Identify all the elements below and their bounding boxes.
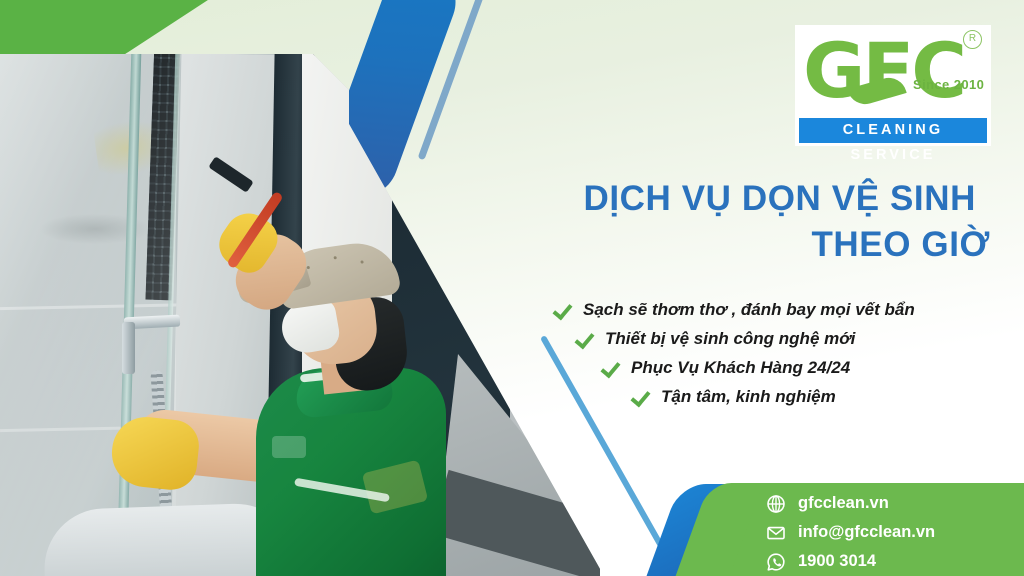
envelope-icon bbox=[766, 523, 786, 543]
contact-website[interactable]: gfcclean.vn bbox=[766, 489, 1024, 518]
contact-email-text: info@gfcclean.vn bbox=[798, 523, 935, 542]
list-item: Tận tâm, kinh nghiệm bbox=[630, 387, 1008, 407]
green-wedge-shape bbox=[0, 0, 306, 60]
faucet-stem bbox=[122, 322, 135, 374]
feature-text: Thiết bị vệ sinh công nghệ mới bbox=[605, 329, 855, 349]
hero-photo-content bbox=[0, 54, 600, 576]
feature-text: Sạch sẽ thơm thơ , đánh bay mọi vết bẩn bbox=[583, 300, 915, 320]
registered-trademark-icon: R bbox=[963, 30, 982, 49]
cap-eyelet bbox=[360, 260, 363, 263]
check-icon bbox=[600, 358, 620, 378]
logo-since-text: Since 2010 bbox=[913, 77, 984, 92]
contact-phone[interactable]: 1900 3014 bbox=[766, 547, 1024, 576]
whatsapp-icon bbox=[766, 552, 786, 572]
check-icon bbox=[574, 329, 594, 349]
contact-email[interactable]: info@gfcclean.vn bbox=[766, 518, 1024, 547]
logo-tagline: CLEANING SERVICE bbox=[799, 118, 987, 143]
check-icon bbox=[630, 387, 650, 407]
headline-line-1: DỊCH VỤ DỌN VỆ SINH bbox=[470, 176, 990, 222]
page-title: DỊCH VỤ DỌN VỆ SINH THEO GIỜ bbox=[470, 176, 990, 268]
cleaning-worker bbox=[146, 240, 446, 576]
list-item: Thiết bị vệ sinh công nghệ mới bbox=[574, 329, 1008, 349]
check-icon bbox=[552, 300, 572, 320]
brand-logo[interactable]: GFC Since 2010 R CLEANING SERVICE bbox=[795, 25, 991, 146]
list-item: Phục Vụ Khách Hàng 24/24 bbox=[600, 358, 1008, 378]
promo-banner: GFC Since 2010 R CLEANING SERVICE DỊCH V… bbox=[0, 0, 1024, 576]
contact-list: gfcclean.vn info@gfcclean.vn 1900 3014 bbox=[766, 489, 1024, 576]
feature-list: Sạch sẽ thơm thơ , đánh bay mọi vết bẩn … bbox=[552, 300, 1008, 416]
contact-phone-text: 1900 3014 bbox=[798, 552, 876, 571]
list-item: Sạch sẽ thơm thơ , đánh bay mọi vết bẩn bbox=[552, 300, 1008, 320]
hero-photo bbox=[0, 54, 600, 576]
contact-website-text: gfcclean.vn bbox=[798, 494, 889, 513]
globe-icon bbox=[766, 494, 786, 514]
cap-eyelet bbox=[334, 256, 337, 259]
feature-text: Phục Vụ Khách Hàng 24/24 bbox=[631, 358, 850, 378]
feature-text: Tận tâm, kinh nghiệm bbox=[661, 387, 836, 407]
headline-line-2: THEO GIỜ bbox=[470, 222, 990, 268]
uniform-logo bbox=[272, 436, 306, 458]
cap-eyelet bbox=[307, 266, 310, 269]
